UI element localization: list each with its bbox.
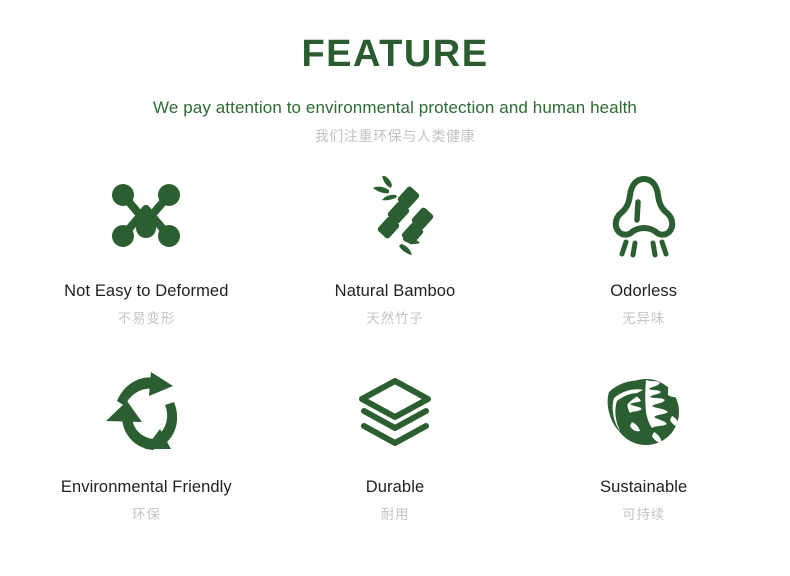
feature-item: Natural Bamboo 天然竹子 [271, 170, 520, 366]
nose-smell-icon [604, 170, 684, 262]
section-header: FEATURE We pay attention to environmenta… [0, 0, 790, 146]
feature-label-chinese: 环保 [132, 507, 161, 523]
feature-grid: Not Easy to Deformed 不易变形 [0, 170, 790, 562]
bamboo-stalks-icon [355, 170, 435, 262]
feature-label-english: Durable [366, 478, 424, 498]
feature-label-english: Environmental Friendly [61, 478, 232, 498]
feature-label-english: Natural Bamboo [335, 282, 456, 302]
feature-section: FEATURE We pay attention to environmenta… [0, 0, 790, 576]
feature-label-english: Sustainable [600, 478, 687, 498]
feature-label-chinese: 无异味 [622, 311, 665, 327]
feature-item: Environmental Friendly 环保 [22, 366, 271, 562]
molecule-nodes-icon [106, 170, 186, 262]
feature-label-english: Odorless [610, 282, 677, 302]
feature-item: Sustainable 可持续 [519, 366, 768, 562]
page-title: FEATURE [0, 34, 790, 76]
recycle-arrows-icon [104, 366, 188, 458]
stacked-layers-icon [355, 366, 435, 458]
feature-label-chinese: 可持续 [622, 507, 665, 523]
globe-leaf-icon [602, 366, 686, 458]
section-subtitle-chinese: 我们注重环保与人类健康 [0, 128, 790, 146]
feature-label-chinese: 天然竹子 [366, 311, 423, 327]
feature-label-chinese: 不易变形 [118, 311, 175, 327]
feature-item: Not Easy to Deformed 不易变形 [22, 170, 271, 366]
feature-item: Durable 耐用 [271, 366, 520, 562]
feature-item: Odorless 无异味 [519, 170, 768, 366]
section-subtitle-english: We pay attention to environmental protec… [0, 97, 790, 118]
feature-label-chinese: 耐用 [381, 507, 410, 523]
feature-label-english: Not Easy to Deformed [64, 282, 228, 302]
